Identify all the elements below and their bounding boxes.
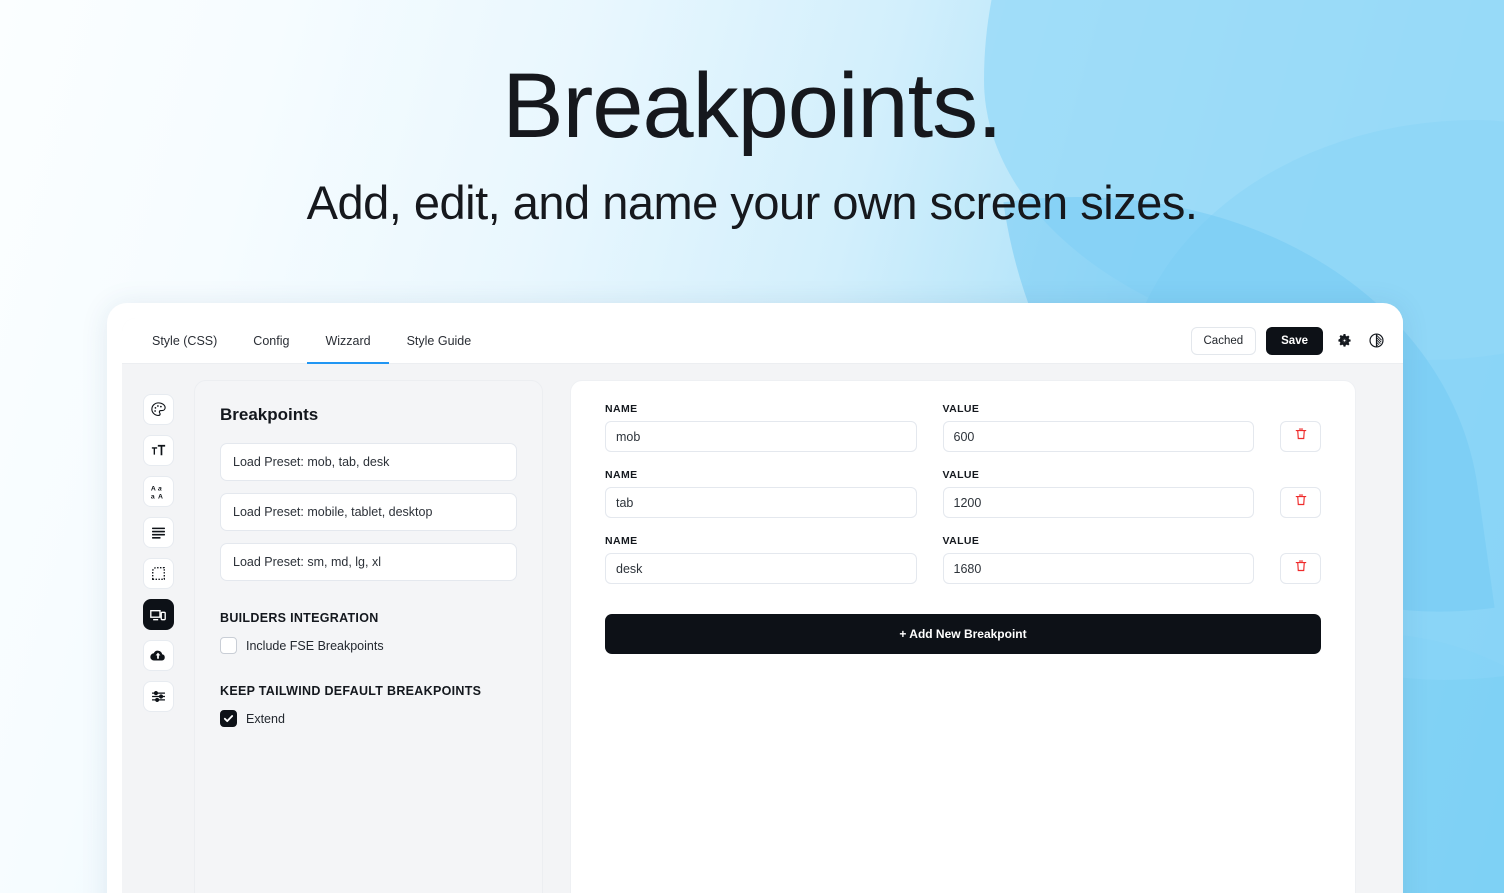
name-field-group: NAME <box>605 469 917 518</box>
topbar-actions: Cached Save <box>1191 318 1404 363</box>
tab-config[interactable]: Config <box>235 318 307 363</box>
cloud-upload-icon <box>149 647 167 665</box>
hero-section: Breakpoints. Add, edit, and name your ow… <box>0 58 1504 228</box>
page-title: Breakpoints. <box>0 58 1504 155</box>
name-label: NAME <box>605 469 917 481</box>
rail-item-line-height[interactable] <box>143 517 174 548</box>
contrast-icon[interactable] <box>1365 330 1387 352</box>
add-new-breakpoint-button[interactable]: + Add New Breakpoint <box>605 614 1321 654</box>
value-field-group: VALUE <box>943 403 1255 452</box>
breakpoint-row: NAME VALUE <box>605 535 1321 584</box>
svg-text:A: A <box>157 493 162 500</box>
value-label: VALUE <box>943 403 1255 415</box>
checkbox-row-include-fse[interactable]: Include FSE Breakpoints <box>220 637 517 654</box>
checkbox-row-extend[interactable]: Extend <box>220 710 517 727</box>
breakpoint-row: NAME VALUE <box>605 469 1321 518</box>
delete-breakpoint-button[interactable] <box>1280 421 1321 452</box>
devices-icon <box>149 606 167 624</box>
breakpoint-name-input[interactable] <box>605 421 917 452</box>
breakpoints-settings-card: Breakpoints Load Preset: mob, tab, desk … <box>194 380 543 893</box>
card-title: Breakpoints <box>220 405 517 425</box>
delete-breakpoint-button[interactable] <box>1280 553 1321 584</box>
breakpoint-name-input[interactable] <box>605 553 917 584</box>
rail-item-cloud-upload[interactable] <box>143 640 174 671</box>
preset-button-sm-md-lg-xl[interactable]: Load Preset: sm, md, lg, xl <box>220 543 517 581</box>
breakpoint-row: NAME VALUE <box>605 403 1321 452</box>
trash-icon <box>1294 493 1308 512</box>
value-label: VALUE <box>943 469 1255 481</box>
rail-item-palette[interactable] <box>143 394 174 425</box>
tool-rail: A a a A <box>122 380 194 893</box>
name-label: NAME <box>605 403 917 415</box>
svg-text:a: a <box>157 485 161 492</box>
value-field-group: VALUE <box>943 535 1255 584</box>
tab-style-guide[interactable]: Style Guide <box>389 318 490 363</box>
typography-icon: A a a A <box>150 483 167 500</box>
breakpoint-value-input[interactable] <box>943 421 1255 452</box>
name-label: NAME <box>605 535 917 547</box>
builders-integration-heading: BUILDERS INTEGRATION <box>220 611 517 625</box>
app-window-inner: Style (CSS) Config Wizzard Style Guide C… <box>122 318 1403 893</box>
workspace: A a a A <box>122 364 1403 893</box>
trash-icon <box>1294 427 1308 446</box>
checkbox-extend[interactable] <box>220 710 237 727</box>
text-size-icon <box>150 442 167 459</box>
rail-item-devices[interactable] <box>143 599 174 630</box>
breakpoint-value-input[interactable] <box>943 553 1255 584</box>
checkbox-include-fse[interactable] <box>220 637 237 654</box>
tab-wizzard[interactable]: Wizzard <box>307 318 388 363</box>
name-field-group: NAME <box>605 403 917 452</box>
app-window: Style (CSS) Config Wizzard Style Guide C… <box>107 303 1403 893</box>
breakpoints-form-card: NAME VALUE <box>570 380 1356 893</box>
rail-item-typography[interactable]: A a a A <box>143 476 174 507</box>
value-field-group: VALUE <box>943 469 1255 518</box>
breakpoint-value-input[interactable] <box>943 487 1255 518</box>
app-topbar: Style (CSS) Config Wizzard Style Guide C… <box>122 318 1403 364</box>
keep-tailwind-heading: KEEP TAILWIND DEFAULT BREAKPOINTS <box>220 684 517 698</box>
value-label: VALUE <box>943 535 1255 547</box>
preset-button-mobile-tablet-desktop[interactable]: Load Preset: mobile, tablet, desktop <box>220 493 517 531</box>
checkbox-label-extend: Extend <box>246 712 285 726</box>
rail-item-sliders[interactable] <box>143 681 174 712</box>
save-button[interactable]: Save <box>1266 327 1323 355</box>
preset-button-mob-tab-desk[interactable]: Load Preset: mob, tab, desk <box>220 443 517 481</box>
page-subtitle: Add, edit, and name your own screen size… <box>0 177 1504 229</box>
delete-breakpoint-button[interactable] <box>1280 487 1321 518</box>
svg-text:A: A <box>150 485 155 492</box>
border-radius-icon <box>150 565 167 582</box>
svg-text:a: a <box>150 493 154 500</box>
breakpoint-name-input[interactable] <box>605 487 917 518</box>
sliders-icon <box>150 688 167 705</box>
tab-style-css[interactable]: Style (CSS) <box>134 318 235 363</box>
name-field-group: NAME <box>605 535 917 584</box>
trash-icon <box>1294 559 1308 578</box>
cached-button[interactable]: Cached <box>1191 327 1257 355</box>
line-height-icon <box>150 524 167 541</box>
page-background: Breakpoints. Add, edit, and name your ow… <box>0 0 1504 893</box>
palette-icon <box>150 401 167 418</box>
gear-icon[interactable] <box>1333 330 1355 352</box>
rail-item-text-size[interactable] <box>143 435 174 466</box>
rail-item-border-radius[interactable] <box>143 558 174 589</box>
panels: Breakpoints Load Preset: mob, tab, desk … <box>194 380 1403 893</box>
checkbox-label-include-fse: Include FSE Breakpoints <box>246 639 384 653</box>
tab-bar: Style (CSS) Config Wizzard Style Guide <box>122 318 489 363</box>
